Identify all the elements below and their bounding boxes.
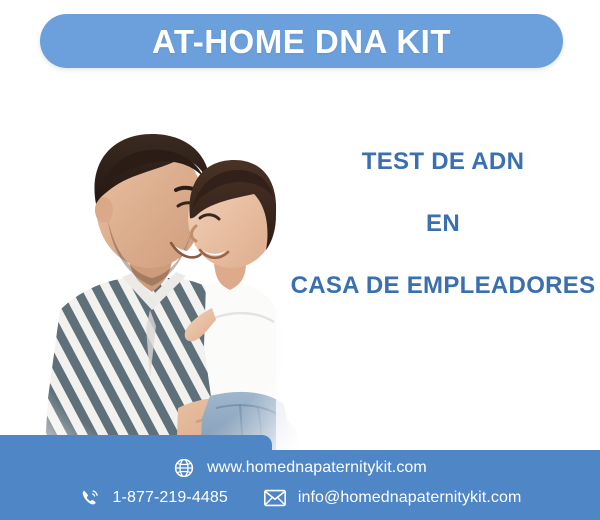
footer-website-row: www.homednapaternitykit.com <box>0 457 600 479</box>
email-label: info@homednapaternitykit.com <box>298 490 522 506</box>
website-label: www.homednapaternitykit.com <box>207 460 427 476</box>
envelope-icon <box>264 487 286 509</box>
headline-line-2: EN <box>286 212 600 236</box>
headline-line-3: CASA DE EMPLEADORES <box>286 274 600 298</box>
footer-content: www.homednapaternitykit.com 1-877-219-44… <box>0 435 600 520</box>
phone-label: 1-877-219-4485 <box>113 490 228 506</box>
globe-icon <box>173 457 195 479</box>
headline-line-1: TEST DE ADN <box>286 150 600 174</box>
footer-bar: www.homednapaternitykit.com 1-877-219-44… <box>0 435 600 520</box>
banner-pill: AT-HOME DNA KIT <box>40 14 563 68</box>
website-contact-item[interactable]: www.homednapaternitykit.com <box>173 457 427 479</box>
email-contact-item[interactable]: info@homednapaternitykit.com <box>264 487 522 509</box>
father-and-child-photo <box>0 78 310 463</box>
banner-title: AT-HOME DNA KIT <box>152 25 451 58</box>
footer-contact-row: 1-877-219-4485 info@homednapaternitykit.… <box>0 487 600 509</box>
phone-icon <box>79 487 101 509</box>
phone-contact-item[interactable]: 1-877-219-4485 <box>79 487 228 509</box>
headline-block: TEST DE ADN EN CASA DE EMPLEADORES <box>286 150 600 298</box>
poster-canvas: AT-HOME DNA KIT <box>0 0 600 520</box>
